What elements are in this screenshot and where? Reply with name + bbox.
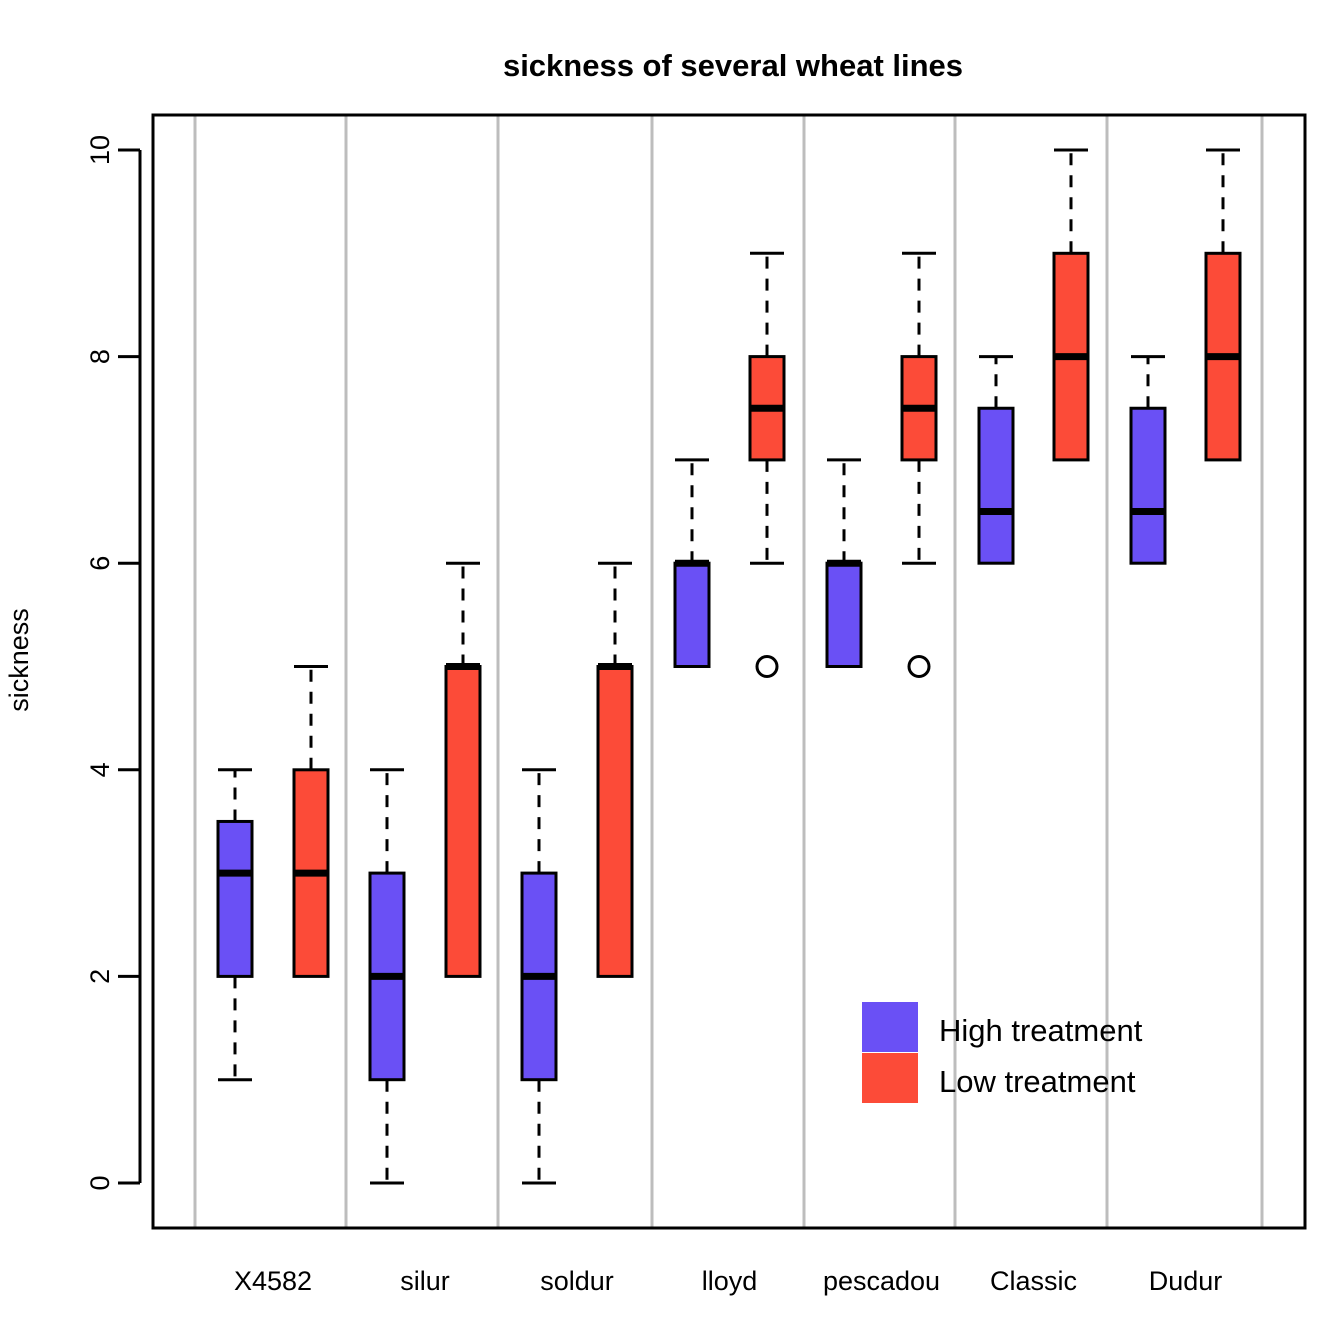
chart-title: sickness of several wheat lines — [503, 48, 963, 83]
x-category-label: silur — [400, 1266, 450, 1296]
box-body — [827, 563, 861, 666]
y-tick-label: 0 — [85, 1175, 115, 1190]
x-category-label: soldur — [540, 1266, 614, 1296]
boxplot-figure: sickness of several wheat lines sickness… — [0, 0, 1344, 1344]
y-axis: 0246810 — [85, 135, 140, 1191]
boxplot-box — [675, 460, 709, 667]
outlier-point — [909, 657, 929, 677]
box-body — [218, 821, 252, 976]
boxplot-box — [446, 563, 480, 976]
legend-label: Low treatment — [939, 1064, 1136, 1099]
legend-label: High treatment — [939, 1013, 1143, 1048]
box-body — [1131, 408, 1165, 563]
box-body — [598, 667, 632, 977]
box-body — [979, 408, 1013, 563]
boxplot-box — [370, 770, 404, 1183]
boxplot-box — [218, 770, 252, 1080]
legend-swatch — [862, 1053, 918, 1103]
boxplot-box — [902, 253, 936, 676]
boxplot-box — [827, 460, 861, 667]
panel-separators — [195, 115, 1262, 1228]
y-tick-label: 4 — [85, 762, 115, 777]
boxplot-box — [1206, 150, 1240, 460]
box-series-high-treatment — [218, 357, 1165, 1183]
chart-canvas: sickness of several wheat lines sickness… — [0, 0, 1344, 1344]
box-series-low-treatment — [294, 150, 1240, 976]
boxplot-box — [1131, 357, 1165, 564]
x-category-label: Dudur — [1149, 1266, 1223, 1296]
x-category-label: pescadou — [823, 1266, 940, 1296]
y-tick-label: 6 — [85, 556, 115, 571]
y-tick-label: 2 — [85, 969, 115, 984]
boxplot-box — [294, 667, 328, 977]
boxplot-box — [1054, 150, 1088, 460]
boxplot-box — [598, 563, 632, 976]
x-axis-category-labels: X4582silursoldurlloydpescadouClassicDudu… — [234, 1266, 1222, 1296]
y-tick-label: 10 — [85, 135, 115, 165]
box-body — [675, 563, 709, 666]
x-category-label: X4582 — [234, 1266, 312, 1296]
y-tick-label: 8 — [85, 349, 115, 364]
boxplot-box — [979, 357, 1013, 564]
x-category-label: Classic — [990, 1266, 1077, 1296]
boxplot-box — [522, 770, 556, 1183]
plot-frame — [153, 115, 1305, 1228]
chart-legend: High treatmentLow treatment — [862, 1002, 1143, 1103]
box-body — [446, 667, 480, 977]
x-category-label: lloyd — [702, 1266, 758, 1296]
outlier-point — [757, 657, 777, 677]
legend-swatch — [862, 1002, 918, 1052]
y-axis-title: sickness — [4, 608, 34, 712]
boxplot-box — [750, 253, 784, 676]
